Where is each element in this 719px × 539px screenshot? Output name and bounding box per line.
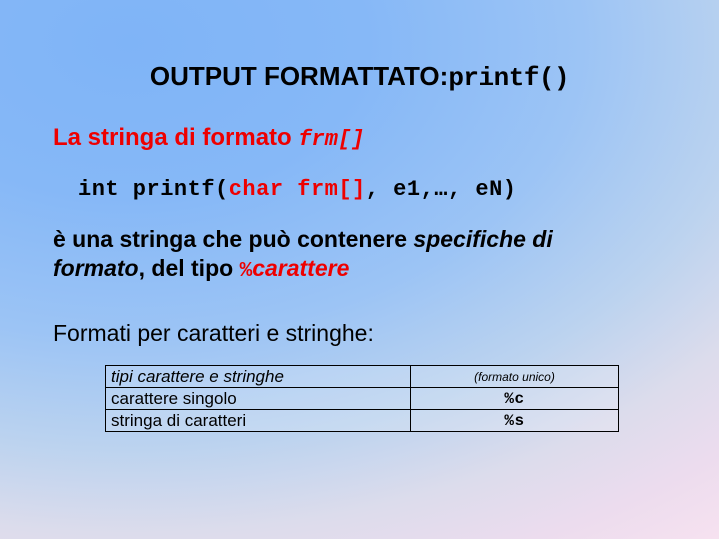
slide-title-code: printf() xyxy=(448,63,569,93)
prototype-part-2: char frm[] xyxy=(229,177,366,202)
body-line2-percent: % xyxy=(240,260,253,283)
presentation-slide: OUTPUT FORMATTATO:printf() La stringa di… xyxy=(0,0,719,539)
body-text-line-2: formato, del tipo %carattere xyxy=(53,255,349,283)
body-line2-plain: , del tipo xyxy=(139,255,240,281)
table-cell-label: stringa di caratteri xyxy=(106,410,411,432)
prototype-part-3: , e1,…, eN) xyxy=(366,177,517,202)
table-cell-label: carattere singolo xyxy=(106,388,411,410)
format-table: tipi carattere e stringhe (formato unico… xyxy=(105,365,619,432)
slide-title-text: OUTPUT FORMATTATO: xyxy=(150,61,448,91)
body-line1-plain: è una stringa che può contenere xyxy=(53,226,413,252)
table-row: carattere singolo %c xyxy=(106,388,619,410)
table-row: stringa di caratteri %s xyxy=(106,410,619,432)
section-heading: La stringa di formato frm[] xyxy=(53,124,364,152)
body-line1-italic: specifiche di xyxy=(413,226,552,252)
table-caption: Formati per caratteri e stringhe: xyxy=(53,320,374,347)
prototype-part-1: int printf( xyxy=(78,177,229,202)
body-line2-italic: formato xyxy=(53,255,139,281)
slide-title: OUTPUT FORMATTATO:printf() xyxy=(0,61,719,93)
table-cell-label: tipi carattere e stringhe xyxy=(106,366,411,388)
function-prototype: int printf(char frm[], e1,…, eN) xyxy=(78,177,517,202)
table-cell-value: %s xyxy=(411,410,619,432)
body-line2-red-italic: carattere xyxy=(252,255,349,281)
table-row: tipi carattere e stringhe (formato unico… xyxy=(106,366,619,388)
table-cell-value: (formato unico) xyxy=(411,366,619,388)
section-heading-code: frm[] xyxy=(298,127,364,152)
table-cell-value: %c xyxy=(411,388,619,410)
body-text-line-1: è una stringa che può contenere specific… xyxy=(53,226,553,253)
section-heading-text: La stringa di formato xyxy=(53,124,298,151)
